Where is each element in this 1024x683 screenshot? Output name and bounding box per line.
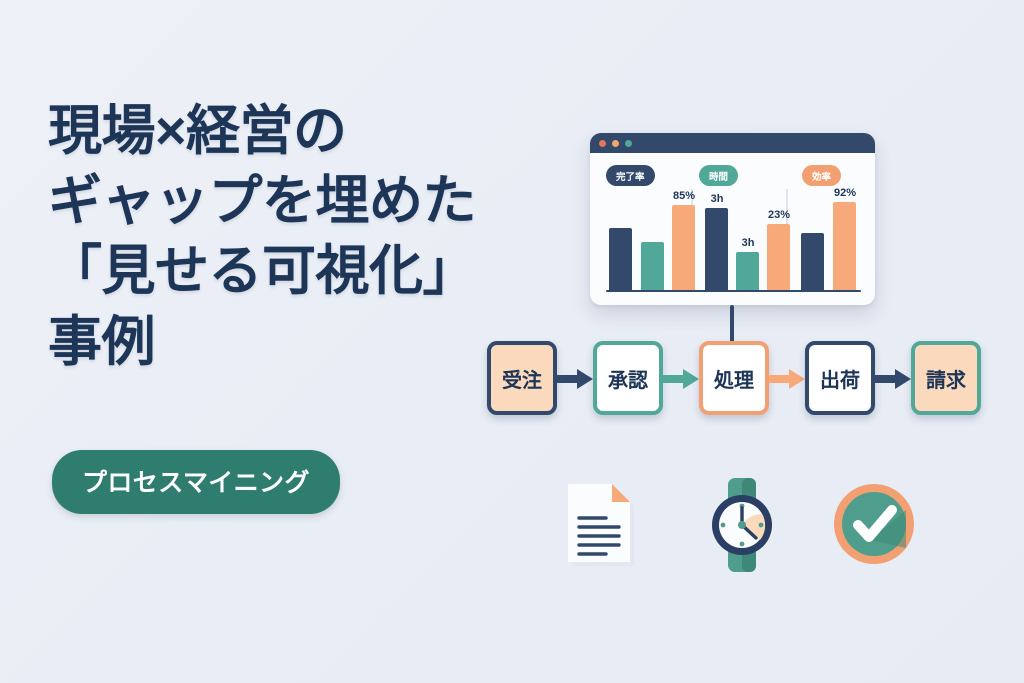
flow-arrow-2-icon [663,369,699,389]
chart-legend-time: 時間 [699,165,738,186]
flow-step-2-label: 承認 [608,364,648,393]
bar-g3-orange [833,202,856,290]
bar-g1-teal [641,242,664,290]
watch-icon [690,470,794,578]
bar-value-label-4: 23% [761,209,797,221]
check-circle-icon [822,470,926,574]
flow-arrow-4-icon [875,369,911,389]
category-badge[interactable]: プロセスマイニング [52,450,340,514]
headline-line-2: ギャップを埋めた [48,166,518,236]
page-title: 現場×経営の ギャップを埋めた 「見せる可視化」 事例 [48,96,518,377]
chart-legend-completion-rate: 完了率 [606,165,655,186]
bar-value-label-1: 85% [666,190,702,202]
flow-arrow-1-icon [557,369,593,389]
flow-step-4[interactable]: 出荷 [805,341,875,415]
red-dot-icon[interactable] [599,140,606,147]
bar-g1-orange [672,205,695,290]
bar-value-label-2: 3h [699,193,735,205]
yellow-dot-icon[interactable] [612,140,619,147]
flow-step-5[interactable]: 請求 [911,341,981,415]
bar-chart: 完了率 時間 効率 85% 3h 3h 23% 92% [590,153,875,305]
chart-legend-efficiency: 効率 [802,165,841,186]
bar-g2-teal [736,252,759,290]
document-icon [550,470,646,574]
icon-row [540,470,940,580]
flow-step-1[interactable]: 受注 [487,341,557,415]
bar-value-label-3: 3h [730,237,766,249]
bar-value-label-5: 92% [827,187,863,199]
poster-canvas: 現場×経営の ギャップを埋めた 「見せる可視化」 事例 プロセスマイニング 完了… [0,0,1024,683]
hero-text-block: 現場×経営の ギャップを埋めた 「見せる可視化」 事例 [48,96,518,377]
flow-step-2[interactable]: 承認 [593,341,663,415]
dashboard-window: 完了率 時間 効率 85% 3h 3h 23% 92% [590,133,875,305]
window-titlebar [590,133,875,153]
flow-arrow-3-icon [769,369,805,389]
bar-g3-navy [801,233,824,290]
bar-g2-navy [705,208,728,290]
flow-step-3-label: 処理 [714,364,754,393]
headline-line-4: 事例 [48,307,518,377]
flow-step-5-label: 請求 [926,364,966,393]
bar-g1-navy [609,228,632,290]
flow-step-3[interactable]: 処理 [699,341,769,415]
green-dot-icon[interactable] [625,140,632,147]
bar-g2-orange [767,224,790,290]
chart-axis-line [606,290,861,293]
headline-line-3: 「見せる可視化」 [48,236,518,306]
flow-step-4-label: 出荷 [820,364,860,393]
headline-line-1: 現場×経営の [48,96,518,166]
flow-step-1-label: 受注 [502,364,542,393]
